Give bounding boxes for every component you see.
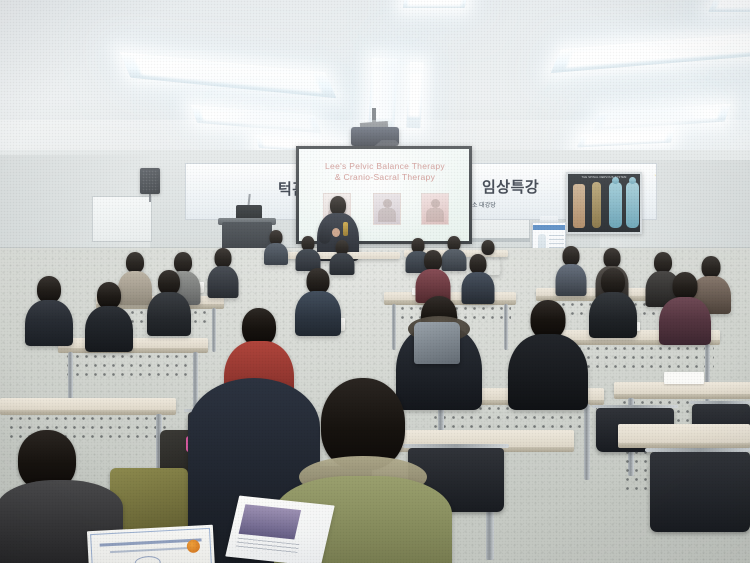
- portrait-caption: [376, 219, 398, 223]
- desk: [618, 424, 750, 444]
- attendee-body: [508, 334, 588, 410]
- attendee: [26, 276, 72, 342]
- ceiling-light: [120, 52, 337, 98]
- attendee: [296, 236, 320, 266]
- attendee-head: [654, 252, 672, 273]
- desk-leg: [392, 304, 396, 350]
- attendee: [590, 268, 636, 334]
- attendee-body: [659, 297, 711, 345]
- attendee: [264, 230, 288, 260]
- presenter-hand: [332, 228, 340, 237]
- desk-modesty-panel: [64, 352, 202, 376]
- ceiling-light: [403, 0, 467, 8]
- attendee-head: [126, 252, 144, 273]
- banner-title-right: 임상특강: [482, 176, 539, 197]
- rollup-header-bar: [533, 225, 565, 230]
- attendee-body: [264, 243, 288, 265]
- poster-figure-body-front: [609, 182, 622, 228]
- desk-modesty-panel: [566, 344, 713, 368]
- attendee: [510, 300, 586, 404]
- leaflet-text-lines: [235, 538, 299, 556]
- slide-portrait: [421, 193, 449, 225]
- poster-figure-head: [629, 177, 636, 184]
- poster-figure-spine: [592, 182, 601, 228]
- ceiling-light: [577, 130, 675, 148]
- slide-title-line1: Lee's Pelvic Balance Therapy: [309, 161, 461, 171]
- attendee-head: [563, 246, 580, 266]
- attendee-foreground: [570, 448, 750, 563]
- attendee: [208, 248, 238, 294]
- attendee-head: [37, 276, 61, 303]
- attendee: [148, 270, 190, 332]
- attendee-head: [215, 248, 232, 268]
- attendee-body: [147, 292, 191, 336]
- slide-title-line2: & Cranio-Sacral Therapy: [309, 172, 461, 182]
- slide-portrait: [373, 193, 401, 225]
- desk: [58, 338, 208, 349]
- desk: [0, 398, 176, 411]
- attendee-body: [556, 264, 587, 296]
- desk-leg: [212, 308, 216, 352]
- portrait-head: [431, 199, 440, 208]
- desk-surface: [618, 424, 750, 444]
- poster-figure-body-back: [626, 182, 639, 228]
- chair-rail: [592, 405, 678, 408]
- portrait-head: [383, 199, 392, 208]
- presenter-microphone: [343, 222, 348, 236]
- ceiling-light: [708, 0, 750, 12]
- speaker-grill: [142, 170, 158, 192]
- brochure: [87, 525, 215, 563]
- attendee: [556, 246, 586, 292]
- attendee-body: [25, 300, 73, 346]
- leaflet-image: [239, 504, 301, 539]
- ceiling-projector: [351, 127, 399, 146]
- attendee: [660, 272, 710, 342]
- attendee-head: [601, 268, 625, 295]
- attendee-head: [604, 248, 621, 268]
- lecture-hall-photo: 턱관절 임상특강 소 대강당 Lee's Pelvic Balance Ther…: [0, 0, 750, 563]
- ceiling-light: [191, 105, 322, 133]
- anatomy-poster: THE SPINAL NERVOUS SYSTEM: [566, 172, 642, 234]
- attendee-body: [295, 291, 341, 336]
- ceiling-light: [551, 31, 750, 73]
- handout: [664, 372, 704, 384]
- attendee: [330, 240, 354, 270]
- poster-figure-vertebrae: [573, 184, 585, 228]
- attendee-head: [470, 254, 487, 274]
- whiteboard-left: [92, 196, 152, 242]
- attendee-body: [208, 266, 239, 298]
- attendee-head: [424, 250, 442, 271]
- portrait-caption: [424, 219, 446, 223]
- attendee-body: [589, 292, 637, 338]
- attendee: [296, 268, 340, 332]
- attendee: [416, 250, 450, 298]
- attendee-head grey: [673, 272, 698, 300]
- attendee: [86, 282, 132, 348]
- chair-rail: [689, 401, 750, 404]
- ceiling-light: [593, 104, 731, 131]
- desk-leg: [504, 304, 508, 350]
- banner-subtitle: 소 대강당: [472, 200, 496, 209]
- poster-figure-head: [612, 177, 619, 184]
- leaflet: [225, 496, 335, 563]
- attendee: [462, 254, 494, 300]
- ceiling-light: [406, 62, 423, 129]
- attendee-body: [85, 306, 133, 352]
- wall-speaker: [140, 168, 160, 194]
- backpack: [414, 322, 460, 364]
- attendee-head: [97, 282, 121, 309]
